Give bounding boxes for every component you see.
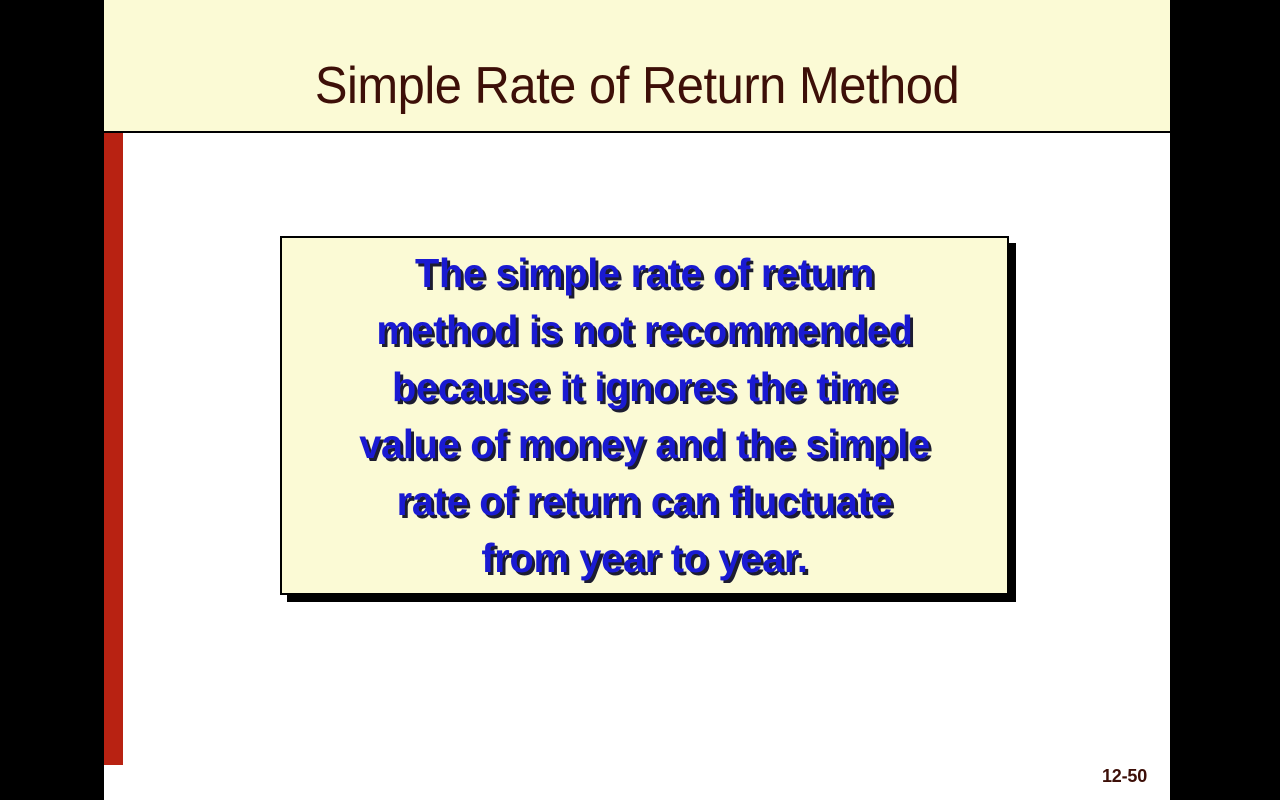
page-title: Simple Rate of Return Method — [136, 58, 1138, 114]
callout-box: The simple rate of return method is not … — [280, 236, 1009, 595]
callout-text: The simple rate of return method is not … — [293, 245, 996, 587]
callout-line: from year to year. — [301, 530, 989, 587]
callout-line: because it ignores the time — [301, 359, 989, 416]
title-banner: Simple Rate of Return Method — [104, 0, 1170, 133]
red-accent-bar — [104, 133, 123, 765]
callout-line: The simple rate of return — [301, 245, 989, 302]
slide-canvas: Simple Rate of Return Method The simple … — [0, 0, 1280, 800]
callout-line: method is not recommended — [301, 302, 989, 359]
callout-line: rate of return can fluctuate — [301, 473, 989, 530]
page-number: 12-50 — [1102, 766, 1147, 787]
callout-line: value of money and the simple — [301, 416, 989, 473]
